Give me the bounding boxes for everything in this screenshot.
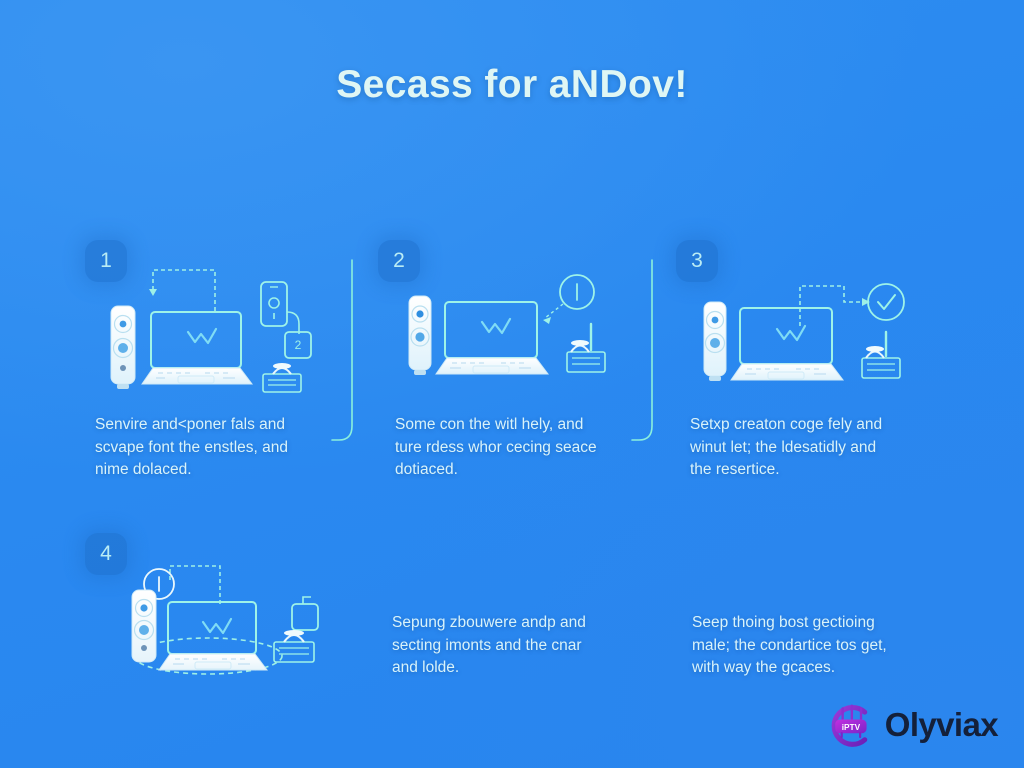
step-2-caption: Some con the witl hely, and ture rdess w… [395,414,630,482]
iptv-badge-text: iPTV [842,723,861,732]
step-6-caption: Seep thoing bost gectioing male; the con… [692,612,942,680]
infographic-canvas: Secass for aNDov! 1 [0,0,1024,768]
step-5-caption: Sepung zbouwere andp and secting imonts … [392,612,637,680]
iptv-router-icon: iPTV [824,702,876,748]
step-1-caption: Senvire and<poner fals and scvape font t… [95,414,330,482]
column-divider-2 [630,258,670,448]
step-3-number: 3 [691,249,703,273]
column-divider-1 [330,258,370,448]
step-1-illustration: 2 [95,262,335,402]
step-2-illustration [395,272,625,402]
step-2-number: 2 [393,249,405,273]
page-title: Secass for aNDov! [0,63,1024,107]
step-3-caption: Setxp creaton coge fely and winut let; t… [690,414,925,482]
brand-name: Olyviax [885,706,998,744]
svg-text:2: 2 [295,338,302,352]
step-4-illustration [110,552,340,682]
brand-logo[interactable]: iPTV Olyviax [824,702,998,748]
step-3-illustration [690,272,920,402]
